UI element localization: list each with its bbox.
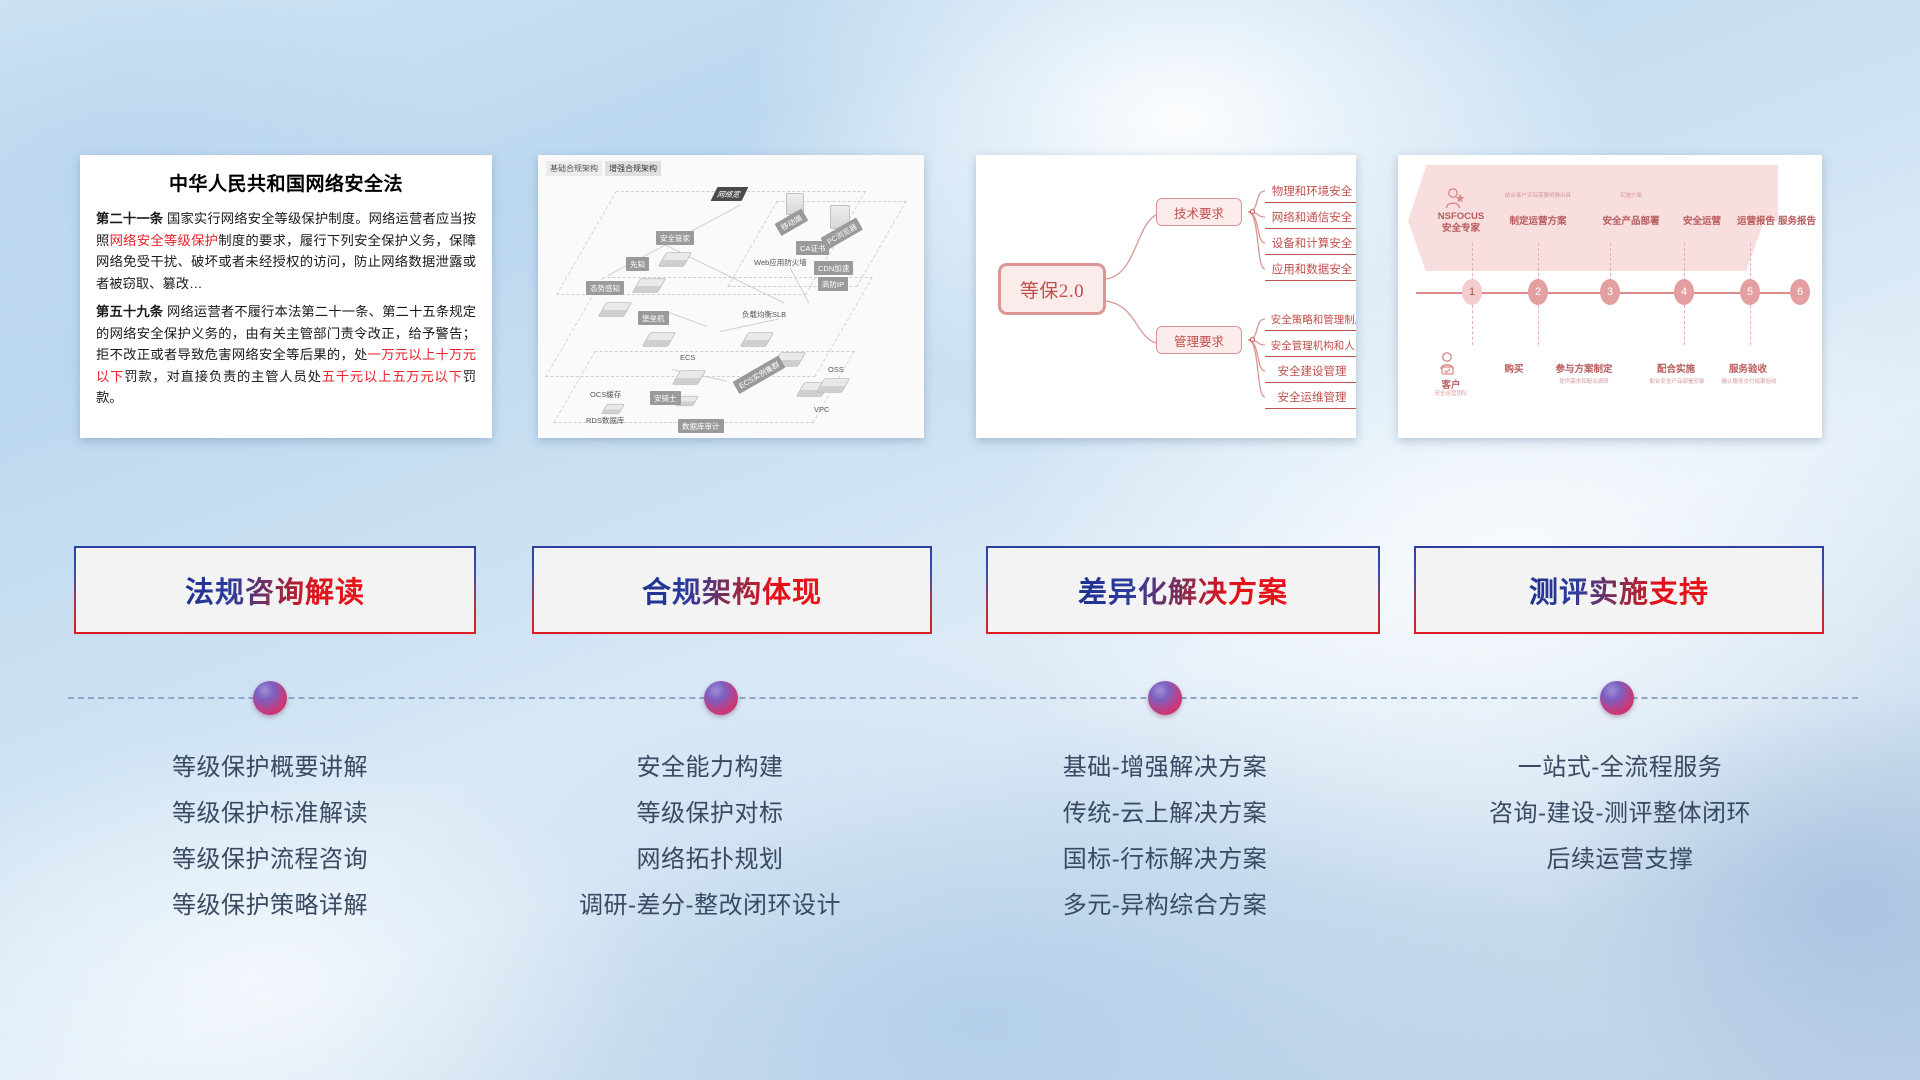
arch-label-anqishi: 安骑士 (650, 391, 681, 405)
bottom-step-3-title: 配合实施 (1644, 361, 1708, 375)
arch-label-security-butler: 安全管家 (656, 231, 694, 245)
mindmap-root: 等保2.0 (998, 263, 1106, 315)
arch-label-anti-ddos-ip: 高防IP (818, 277, 848, 291)
card-architecture[interactable]: 基础合规架构 增强合规架构 网络宽 安全管家 (538, 155, 924, 438)
title-box-compliance-architecture[interactable]: 合规架构体现 (534, 548, 930, 632)
timeline-dashed-line (68, 697, 1858, 699)
bottom-step-2-sub: 提供需求和配合调研 (1544, 377, 1624, 385)
timeline-dash-down-2 (1538, 305, 1539, 345)
list-item: 后续运营支撑 (1400, 837, 1840, 883)
timeline-dot-1 (253, 681, 287, 715)
law-article-label-21: 第二十一条 (96, 211, 163, 226)
list-item: 传统-云上解决方案 (935, 791, 1395, 837)
timeline-node-5: 5 (1740, 279, 1760, 305)
arch-label-ocs-cache: OCS缓存 (586, 387, 625, 401)
arch-label-vpc: VPC (810, 403, 833, 415)
tab-basic-architecture[interactable]: 基础合规架构 (546, 161, 602, 176)
preview-card-row: 中华人民共和国网络安全法 第二十一条 国家实行网络安全等级保护制度。网络运营者应… (0, 0, 1920, 380)
title-box-differentiated-solution[interactable]: 差异化解决方案 (988, 548, 1378, 632)
list-item: 多元-异构综合方案 (935, 883, 1395, 929)
detail-list-architecture: 安全能力构建 等级保护对标 网络拓扑规划 调研-差分-整改闭环设计 (490, 745, 930, 929)
timeline-dash-up-2 (1538, 243, 1539, 281)
bottom-step-3-sub: 配合安全产品部署安装 (1638, 377, 1716, 385)
timeline-dash-up-1 (1472, 243, 1473, 281)
arch-label-situation-awareness: 态势感知 (586, 281, 624, 295)
law-paragraph-59: 第五十九条 网络运营者不履行本法第二十一条、第二十五条规定的网络安全保护义务的，… (96, 301, 476, 409)
customer-sub-label: 安全运营团队 (1420, 389, 1482, 397)
top-step-3-title: 安全运营 (1674, 213, 1730, 227)
timeline-node-4: 4 (1674, 279, 1694, 305)
mindmap-dot-management (1250, 337, 1255, 342)
expert-person-icon (1444, 187, 1466, 211)
card-mindmap[interactable]: 等保2.0 技术要求 物理和环境安全 网络和通信安全 设备和计算安全 应用和数据… (976, 155, 1356, 438)
arch-label-bastion-host: 堡垒机 (638, 311, 669, 325)
arch-label-waf: Web应用防火墙 (750, 255, 811, 269)
title-label-assessment-support: 测评实施支持 (1529, 569, 1709, 611)
mindmap-leaf-application: 应用和数据安全 (1265, 258, 1356, 281)
list-item: 等级保护流程咨询 (40, 837, 500, 883)
list-item: 等级保护策略详解 (40, 883, 500, 929)
list-item: 咨询-建设-测评整体闭环 (1400, 791, 1840, 837)
bottom-step-1-title: 购买 (1490, 361, 1538, 375)
mindmap-leaf-policy: 安全策略和管理制度 (1265, 308, 1356, 331)
service-timeline-diagram: NSFOCUS 安全专家 结合客户实际需要明确出具 制定运营方案 实施方案 安全… (1398, 155, 1822, 438)
card-service-timeline[interactable]: NSFOCUS 安全专家 结合客户实际需要明确出具 制定运营方案 实施方案 安全… (1398, 155, 1822, 438)
timeline-dash-up-3 (1610, 243, 1611, 281)
top-step-2-sub: 实施方案 (1592, 191, 1670, 199)
title-label-regulation-consulting: 法规咨询解读 (185, 569, 365, 611)
mindmap-branch-management: 管理要求 (1156, 326, 1242, 354)
expert-label-role: 安全专家 (1442, 223, 1480, 234)
arch-label-db-audit: 数据库审计 (678, 419, 724, 433)
mindmap-leaf-construction: 安全建设管理 (1265, 360, 1356, 383)
bottom-step-2-title: 参与方案制定 (1544, 361, 1624, 375)
mindmap-leaf-device: 设备和计算安全 (1265, 232, 1356, 255)
bottom-step-4-sub: 确认服务交付成果验收 (1710, 377, 1788, 385)
mindmap-leaf-operation: 安全运维管理 (1265, 386, 1356, 409)
architecture-diagram: 基础合规架构 增强合规架构 网络宽 安全管家 (538, 155, 924, 438)
title-label-compliance-architecture: 合规架构体现 (642, 569, 822, 611)
top-step-2-title: 安全产品部署 (1588, 213, 1674, 227)
mindmap-leaf-physical: 物理和环境安全 (1265, 180, 1356, 203)
arch-label-cdn: CDN加速 (814, 261, 853, 275)
timeline-dot-3 (1148, 681, 1182, 715)
timeline-dot-2 (704, 681, 738, 715)
mindmap-leaf-network: 网络和通信安全 (1265, 206, 1356, 229)
mindmap-dot-technical (1250, 209, 1255, 214)
title-label-differentiated-solution: 差异化解决方案 (1078, 569, 1288, 611)
bottom-step-4-title: 服务验收 (1716, 361, 1780, 375)
list-item: 网络拓扑规划 (490, 837, 930, 883)
mindmap-branch-technical: 技术要求 (1156, 198, 1242, 226)
list-item: 基础-增强解决方案 (935, 745, 1395, 791)
timeline-dash-down-1 (1472, 305, 1473, 345)
timeline-dash-down-4 (1750, 305, 1751, 345)
card-law[interactable]: 中华人民共和国网络安全法 第二十一条 国家实行网络安全等级保护制度。网络运营者应… (80, 155, 492, 438)
mindmap-diagram: 等保2.0 技术要求 物理和环境安全 网络和通信安全 设备和计算安全 应用和数据… (976, 155, 1356, 438)
title-box-regulation-consulting[interactable]: 法规咨询解读 (76, 548, 474, 632)
expert-label-brand: NSFOCUS (1438, 211, 1484, 222)
list-item: 等级保护对标 (490, 791, 930, 837)
customer-person-icon (1438, 351, 1458, 375)
law-article-label-59: 第五十九条 (96, 304, 163, 319)
law-59-highlight-2: 五千元以上五万元以下 (322, 369, 463, 384)
arch-label-rds: RDS数据库 (582, 413, 628, 427)
law-21-highlight: 网络安全等级保护 (110, 233, 219, 248)
arch-label-slb: 负载均衡SLB (738, 307, 790, 321)
title-box-assessment-support[interactable]: 测评实施支持 (1416, 548, 1822, 632)
timeline-dash-up-4 (1684, 243, 1685, 281)
timeline-node-2: 2 (1528, 279, 1548, 305)
tab-enhanced-architecture[interactable]: 增强合规架构 (605, 161, 661, 176)
list-item: 等级保护标准解读 (40, 791, 500, 837)
timeline-dash-down-3 (1684, 305, 1685, 345)
top-step-5-title: 服务报告 (1774, 213, 1820, 227)
timeline-node-1: 1 (1462, 279, 1482, 305)
detail-list-assessment: 一站式-全流程服务 咨询-建设-测评整体闭环 后续运营支撑 (1400, 745, 1840, 883)
timeline-dash-up-5 (1750, 243, 1751, 281)
list-item: 国标-行标解决方案 (935, 837, 1395, 883)
detail-list-solution: 基础-增强解决方案 传统-云上解决方案 国标-行标解决方案 多元-异构综合方案 (935, 745, 1395, 929)
top-step-1-sub: 结合客户实际需要明确出具 (1494, 191, 1582, 199)
list-item: 一站式-全流程服务 (1400, 745, 1840, 791)
timeline-dot-4 (1600, 681, 1634, 715)
law-document: 中华人民共和国网络安全法 第二十一条 国家实行网络安全等级保护制度。网络运营者应… (80, 155, 492, 409)
detail-list-regulation: 等级保护概要讲解 等级保护标准解读 等级保护流程咨询 等级保护策略详解 (40, 745, 500, 929)
timeline-node-6: 6 (1790, 279, 1810, 305)
expert-label: NSFOCUS 安全专家 (1430, 211, 1492, 236)
top-step-1-title: 制定运营方案 (1494, 213, 1582, 227)
architecture-tabs[interactable]: 基础合规架构 增强合规架构 (546, 161, 661, 176)
mindmap-leaf-org: 安全管理机构和人员 (1265, 334, 1356, 357)
arch-label-oss: OSS (824, 363, 848, 375)
law-title: 中华人民共和国网络安全法 (96, 169, 476, 196)
arch-label-ecs: ECS (676, 351, 699, 363)
list-item: 等级保护概要讲解 (40, 745, 500, 791)
list-item: 调研-差分-整改闭环设计 (490, 883, 930, 929)
law-paragraph-21: 第二十一条 国家实行网络安全等级保护制度。网络运营者应当按照网络安全等级保护制度… (96, 208, 476, 294)
law-59-mid: 罚款，对直接负责的主管人员处 (124, 369, 321, 384)
timeline-node-3: 3 (1600, 279, 1620, 305)
arch-label-xianzhi: 先知 (626, 257, 649, 271)
list-item: 安全能力构建 (490, 745, 930, 791)
